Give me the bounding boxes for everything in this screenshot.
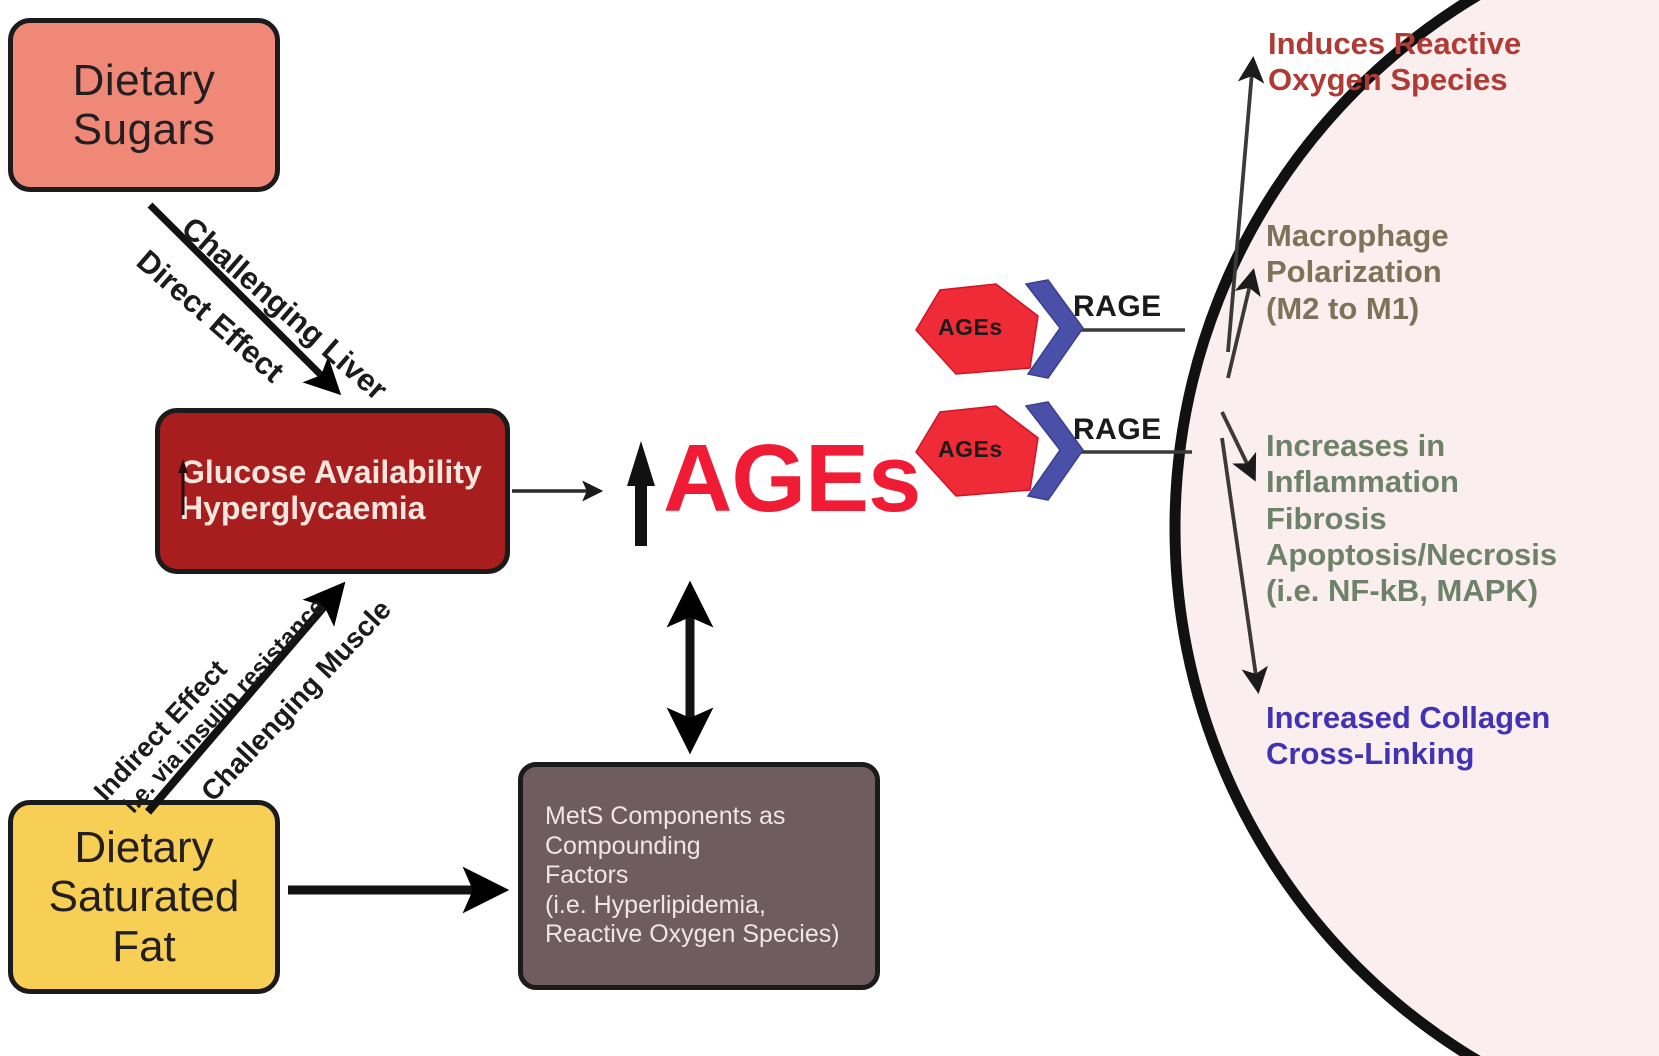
rage-label-2: RAGE <box>1073 413 1162 447</box>
outcome-inflammation-line-2: Inflammation <box>1266 464 1616 500</box>
node-dietary-sugars[interactable]: Dietary Sugars <box>8 18 280 192</box>
ages-hexagon-label: AGEs <box>938 436 1003 463</box>
outcome-collagen-line-1: Increased Collagen <box>1266 700 1606 736</box>
outcome-macrophage-line-1: Macrophage <box>1266 218 1606 254</box>
diagram-canvas: Dietary Sugars Glucose Availability Hype… <box>0 0 1659 1056</box>
node-mets-components[interactable]: MetS Components as Compounding Factors (… <box>518 762 880 990</box>
outcome-collagen-line-2: Cross-Linking <box>1266 736 1606 772</box>
outcome-collagen-cross-linking: Increased Collagen Cross-Linking <box>1266 700 1606 773</box>
outcome-macrophage-line-3: (M2 to M1) <box>1266 291 1606 327</box>
node-glucose-line-1: Glucose Availability <box>180 455 505 491</box>
outcome-inflammation-line-5: (i.e. NF-kB, MAPK) <box>1266 573 1616 609</box>
outcome-reactive-oxygen-species: Induces Reactive Oxygen Species <box>1268 26 1598 99</box>
arrow-to-inflammation <box>1222 412 1254 478</box>
outcome-ros-line-2: Oxygen Species <box>1268 62 1598 98</box>
node-mets-line-2: Compounding <box>545 832 875 862</box>
node-dietary-saturated-fat[interactable]: Dietary Saturated Fat <box>8 800 280 994</box>
node-sat-fat-line-1: Dietary <box>74 823 213 872</box>
node-sat-fat-line-2: Saturated <box>49 872 240 921</box>
arrow-to-reactive-oxygen-species <box>1228 60 1253 352</box>
outcome-ros-line-1: Induces Reactive <box>1268 26 1598 62</box>
outcome-inflammation-line-4: Apoptosis/Necrosis <box>1266 537 1616 573</box>
ages-hexagon-label: AGEs <box>938 314 1003 341</box>
node-glucose-availability[interactable]: Glucose Availability Hyperglycaemia <box>155 408 510 574</box>
node-mets-line-4: (i.e. Hyperlipidemia, <box>545 891 875 921</box>
arrow-to-collagen-cross-linking <box>1222 438 1258 690</box>
outcome-inflammation-line-1: Increases in <box>1266 428 1616 464</box>
node-glucose-line-2: Hyperglycaemia <box>180 491 505 527</box>
outcome-macrophage-line-2: Polarization <box>1266 254 1606 290</box>
node-sat-fat-line-3: Fat <box>112 922 176 971</box>
outcome-inflammation-fibrosis: Increases in Inflammation Fibrosis Apopt… <box>1266 428 1616 609</box>
node-mets-line-5: Reactive Oxygen Species) <box>545 920 875 950</box>
ages-title-label: AGEs <box>663 424 920 534</box>
node-dietary-sugars-line-2: Sugars <box>73 105 215 154</box>
node-mets-line-3: Factors <box>545 861 875 891</box>
outcome-inflammation-line-3: Fibrosis <box>1266 501 1616 537</box>
rage-label-1: RAGE <box>1073 290 1162 324</box>
increase-up-arrow-icon <box>176 457 190 517</box>
outcome-macrophage-polarization: Macrophage Polarization (M2 to M1) <box>1266 218 1606 327</box>
ages-increase-arrow-icon <box>627 441 655 546</box>
node-dietary-sugars-line-1: Dietary <box>73 56 216 105</box>
arrow-to-macrophage-polarization <box>1228 272 1253 378</box>
node-mets-line-1: MetS Components as <box>545 802 875 832</box>
